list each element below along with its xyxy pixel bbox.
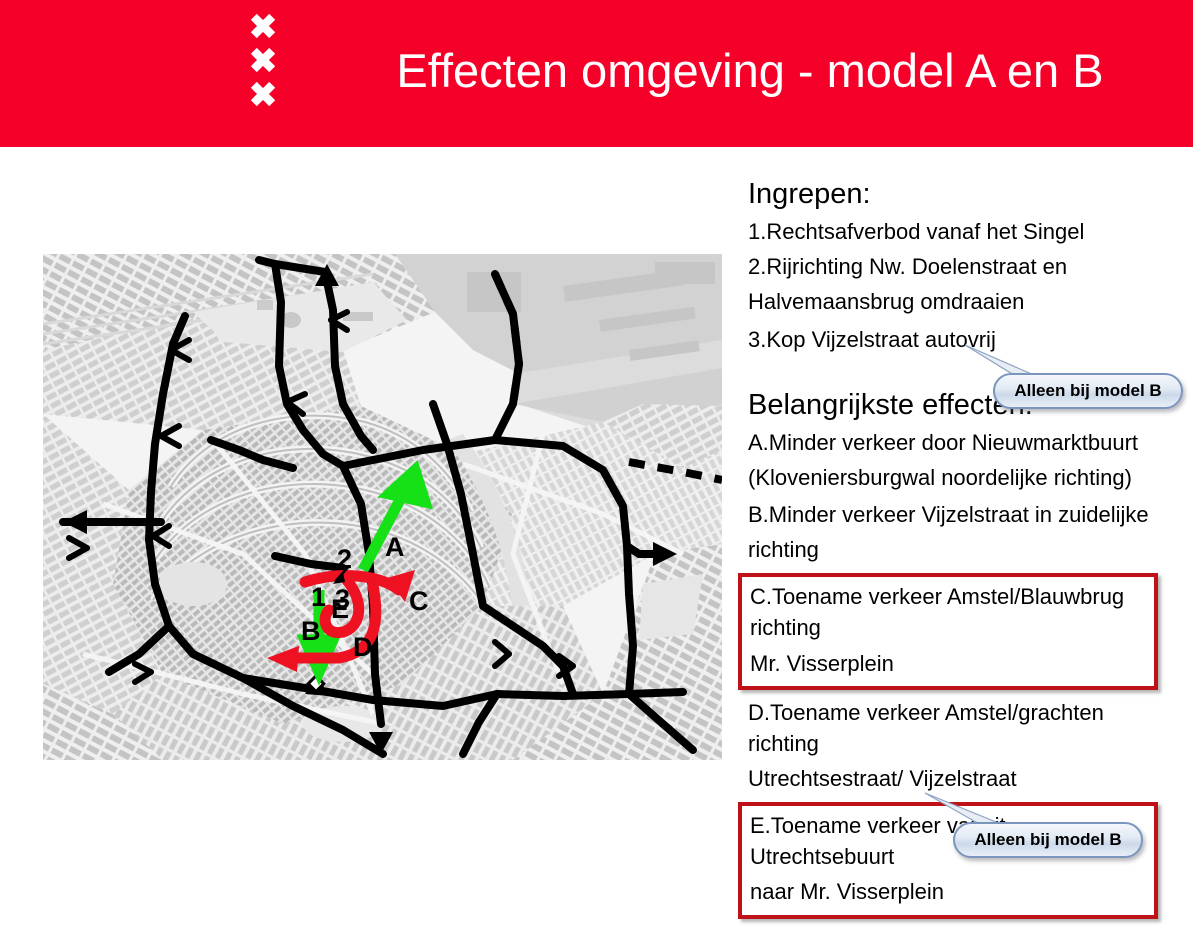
ingrepen-item-3: 3.Kop Vijzelstraat autovrij xyxy=(748,325,1178,356)
map-label-c: C xyxy=(409,586,429,616)
section-ingrepen: Ingrepen: 1.Rechtsafverbod vanaf het Sin… xyxy=(748,178,1178,356)
effect-e-line2: naar Mr. Visserplein xyxy=(750,877,1146,908)
highlight-box-c: C.Toename verkeer Amstel/Blauwbrug richt… xyxy=(738,573,1158,690)
header-banner: Effecten omgeving - model A en B xyxy=(0,0,1193,147)
map-label-1: 1 xyxy=(311,582,326,612)
map-label-b: B xyxy=(301,616,321,646)
effect-d-line1: D.Toename verkeer Amstel/grachten richti… xyxy=(748,698,1178,760)
ingrepen-heading: Ingrepen: xyxy=(748,178,1178,211)
ingrepen-item-2-line1: 2.Rijrichting Nw. Doelenstraat en xyxy=(748,252,1178,283)
map-label-a: A xyxy=(385,532,405,562)
callout-bottom[interactable]: Alleen bij model B xyxy=(953,822,1143,858)
effect-b-line1: B.Minder verkeer Vijzelstraat in zuideli… xyxy=(748,500,1178,531)
effect-c-line2: Mr. Visserplein xyxy=(750,649,1146,680)
ingrepen-item-1: 1.Rechtsafverbod vanaf het Singel xyxy=(748,217,1178,248)
effect-d-line2: Utrechtsestraat/ Vijzelstraat xyxy=(748,764,1178,795)
map-label-d: D xyxy=(353,632,373,662)
callout-top[interactable]: Alleen bij model B xyxy=(993,373,1183,409)
effect-a-line1: A.Minder verkeer door Nieuwmarktbuurt xyxy=(748,428,1178,459)
map-label-3: 3 xyxy=(335,584,350,614)
map-figure: A B C D E 1 2 3 xyxy=(43,254,722,760)
map-label-2: 2 xyxy=(337,544,352,574)
amsterdam-three-crosses-logo xyxy=(240,12,286,108)
page-title: Effecten omgeving - model A en B xyxy=(330,22,1170,118)
effect-c-line1: C.Toename verkeer Amstel/Blauwbrug richt… xyxy=(750,582,1146,644)
effect-a-line2: (Kloveniersburgwal noordelijke richting) xyxy=(748,463,1178,494)
map-svg: A B C D E 1 2 3 xyxy=(43,254,722,760)
effect-b-line2: richting xyxy=(748,535,1178,566)
ingrepen-item-2-line2: Halvemaansbrug omdraaien xyxy=(748,287,1178,318)
